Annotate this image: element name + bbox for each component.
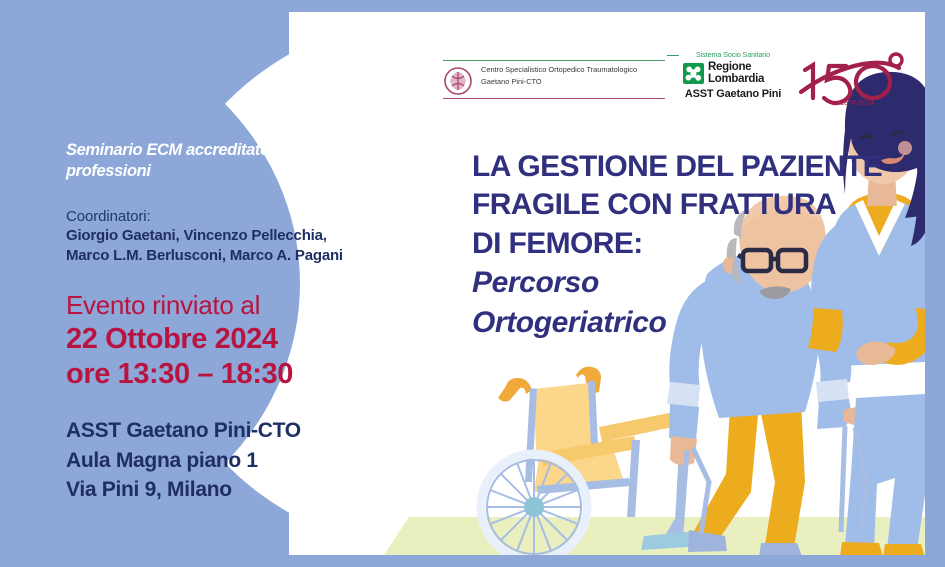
- ecm-note: Seminario ECM accreditato per tutte le p…: [66, 140, 426, 182]
- anniversary-150-icon: 1874-2024: [789, 46, 907, 112]
- cto-rule-bottom: [443, 98, 665, 99]
- subtitle-line-2: Ortogeriatrico: [472, 303, 922, 343]
- event-title: LA GESTIONE DEL PAZIENTE FRAGILE CON FRA…: [472, 148, 922, 343]
- rosa-camuna-icon: [683, 63, 704, 84]
- coordinators-line-1: Giorgio Gaetani, Vincenzo Pellecchia,: [66, 226, 426, 246]
- subtitle-line-1: Percorso: [472, 263, 922, 303]
- cto-logo-line1: Centro Specialistico Ortopedico Traumato…: [481, 64, 637, 76]
- cto-crest-icon: [443, 66, 473, 96]
- cto-logo-text: Centro Specialistico Ortopedico Traumato…: [481, 64, 637, 88]
- regione-line1: Regione: [708, 62, 764, 74]
- anniversary-years: 1874-2024: [840, 100, 874, 107]
- left-info-column: Seminario ECM accreditato per tutte le p…: [66, 140, 426, 505]
- regione-lombardia-logo: Sistema Socio Sanitario: [677, 50, 789, 100]
- venue-line-2: Aula Magna piano 1: [66, 449, 258, 472]
- title-line-2: FRAGILE CON FRATTURA: [472, 186, 922, 224]
- sistema-rule: [667, 55, 679, 56]
- venue-line-3: Via Pini 9, Milano: [66, 478, 232, 501]
- sistema-socio-sanitario-label: Sistema Socio Sanitario: [677, 50, 789, 59]
- venue-line-1: ASST Gaetano Pini-CTO: [66, 419, 301, 442]
- coordinators-label: Coordinatori:: [66, 208, 426, 225]
- venue-block: ASST Gaetano Pini-CTO Aula Magna piano 1…: [66, 416, 426, 505]
- coordinators-line-2: Marco L.M. Berlusconi, Marco A. Pagani: [66, 246, 426, 266]
- cto-rule-top: [443, 60, 665, 61]
- regione-line2: Lombardia: [708, 74, 764, 86]
- cto-logo-line2: Gaetano Pini-CTO: [481, 76, 637, 88]
- asst-gaetano-pini-label: ASST Gaetano Pini: [677, 88, 789, 100]
- event-poster: Centro Specialistico Ortopedico Traumato…: [0, 0, 945, 567]
- regione-lombardia-name: Regione Lombardia: [708, 62, 764, 85]
- postponed-label: Evento rinviato al: [66, 292, 426, 319]
- logo-bar: Centro Specialistico Ortopedico Traumato…: [437, 50, 907, 112]
- title-line-1: LA GESTIONE DEL PAZIENTE: [472, 148, 922, 186]
- title-line-3: DI FEMORE:: [472, 225, 922, 263]
- event-time: ore 13:30 – 18:30: [66, 357, 426, 391]
- event-date: 22 Ottobre 2024: [66, 322, 426, 356]
